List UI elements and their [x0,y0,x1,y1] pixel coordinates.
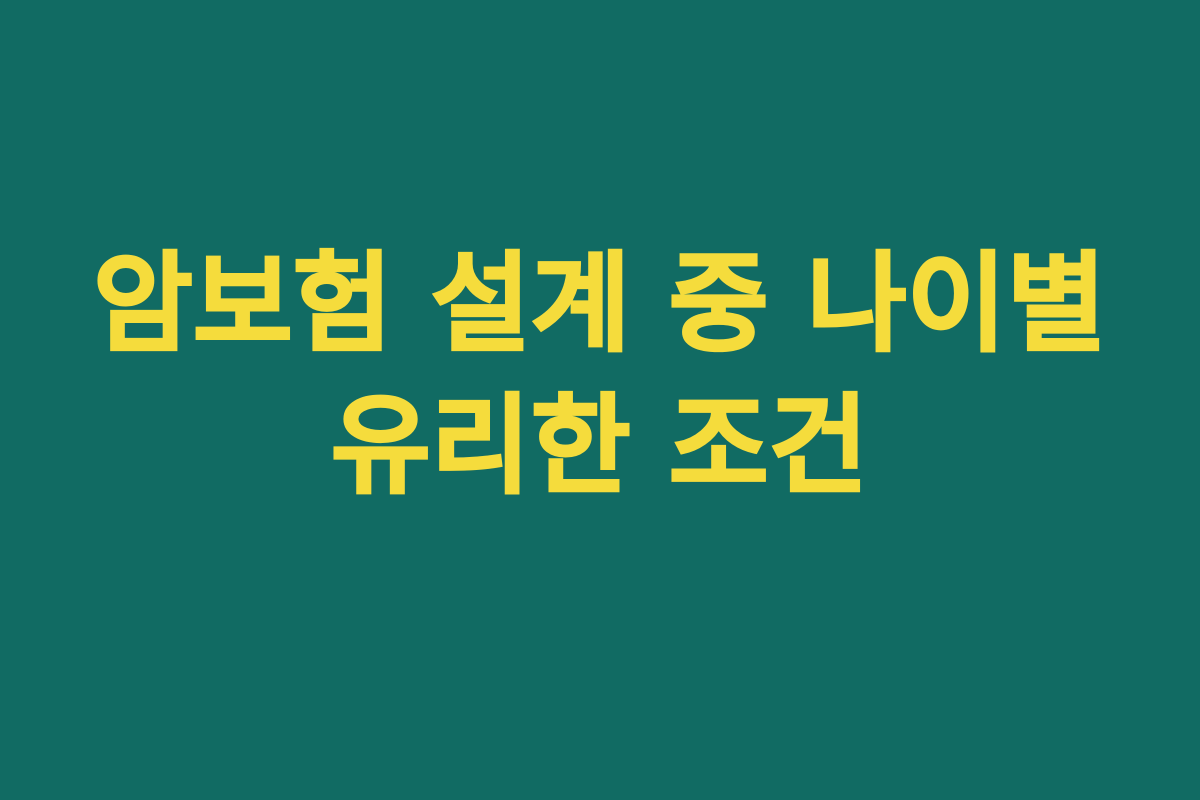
headline-line-2: 유리한 조건 [0,376,1200,518]
headline-line-1: 암보험 설계 중 나이별 [0,234,1200,376]
banner-canvas: 암보험 설계 중 나이별 유리한 조건 [0,0,1200,800]
headline-block: 암보험 설계 중 나이별 유리한 조건 [0,234,1200,518]
